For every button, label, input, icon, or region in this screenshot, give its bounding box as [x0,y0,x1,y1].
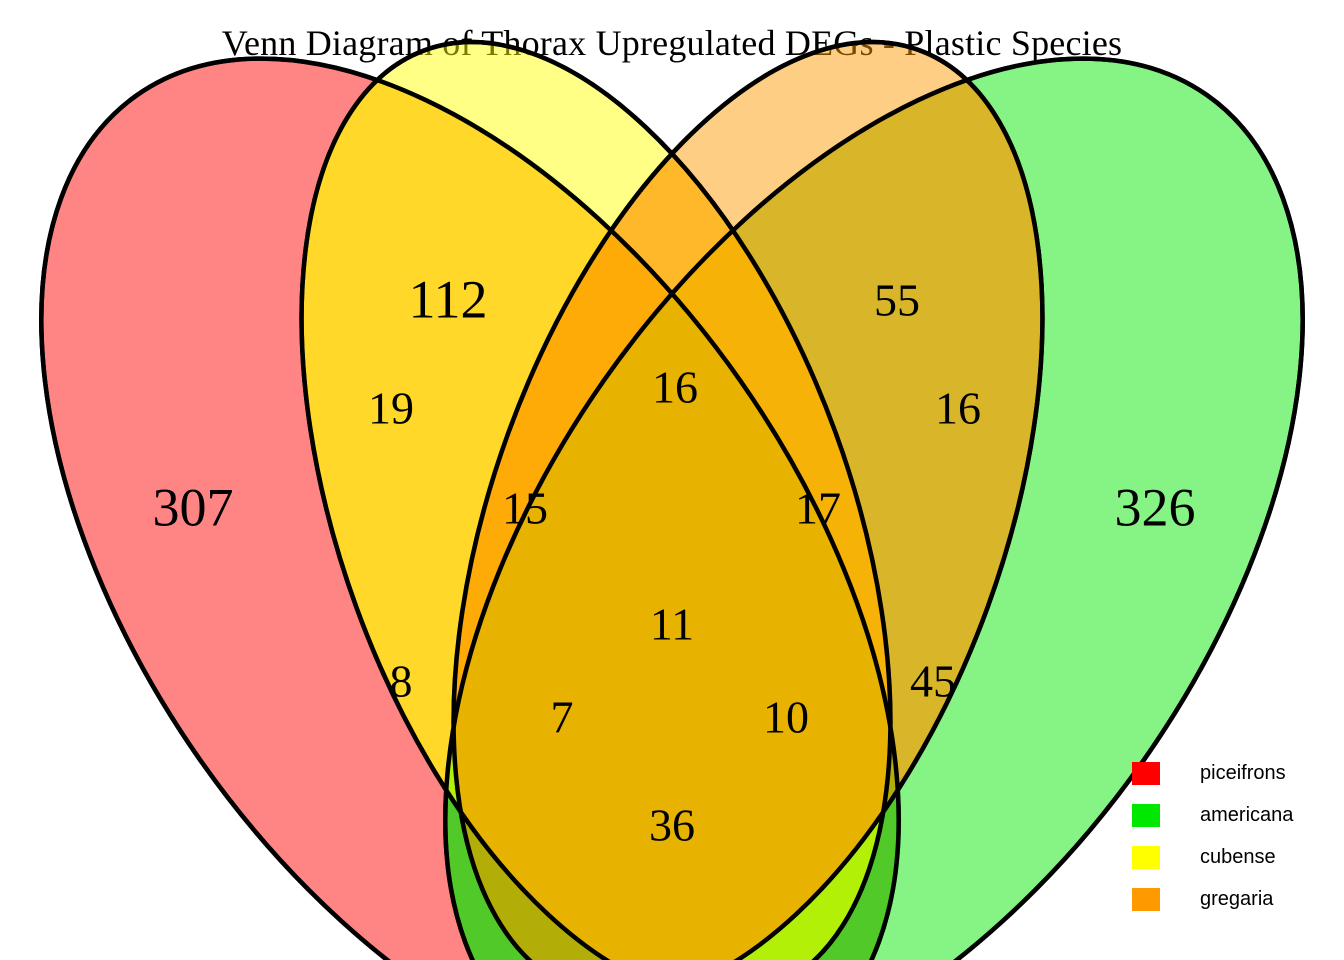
venn-count-piceifrons: 307 [153,477,234,537]
legend-row-cubense: cubense [1132,836,1342,878]
legend-row-piceifrons: piceifrons [1132,752,1342,794]
venn-count-piceifrons+cubense+gregaria: 15 [502,483,548,534]
legend-label-gregaria: gregaria [1200,888,1273,911]
venn-count-piceifrons+americana: 36 [649,800,695,851]
venn-count-americana+gregaria: 16 [935,383,981,434]
venn-count-americana+cubense: 45 [910,656,956,707]
venn-count-americana: 326 [1115,477,1196,537]
legend-swatch-piceifrons [1132,762,1160,785]
venn-count-piceifrons+americana+cubense: 10 [763,692,809,743]
venn-count-gregaria: 55 [874,275,920,326]
venn-count-piceifrons+americana+gregaria: 7 [551,692,574,743]
legend-swatch-cubense [1132,846,1160,869]
legend-row-gregaria: gregaria [1132,878,1342,920]
venn-count-piceifrons+americana+cubense+gregaria: 11 [650,599,694,650]
legend-label-americana: americana [1200,804,1293,827]
legend-label-cubense: cubense [1200,846,1276,869]
venn-count-americana+cubense+gregaria: 17 [795,483,841,534]
legend-swatch-americana [1132,804,1160,827]
legend-label-piceifrons: piceifrons [1200,762,1286,785]
venn-count-cubense+gregaria: 16 [652,362,698,413]
legend-row-americana: americana [1132,794,1342,836]
venn-count-cubense: 112 [409,269,488,329]
legend: piceifronsamericanacubensegregaria [1132,752,1342,920]
legend-swatch-gregaria [1132,888,1160,911]
venn-count-piceifrons+cubense: 19 [368,383,414,434]
venn-count-piceifrons+gregaria: 8 [390,656,413,707]
venn-diagram-canvas: Venn Diagram of Thorax Upregulated DEGs … [0,0,1344,960]
